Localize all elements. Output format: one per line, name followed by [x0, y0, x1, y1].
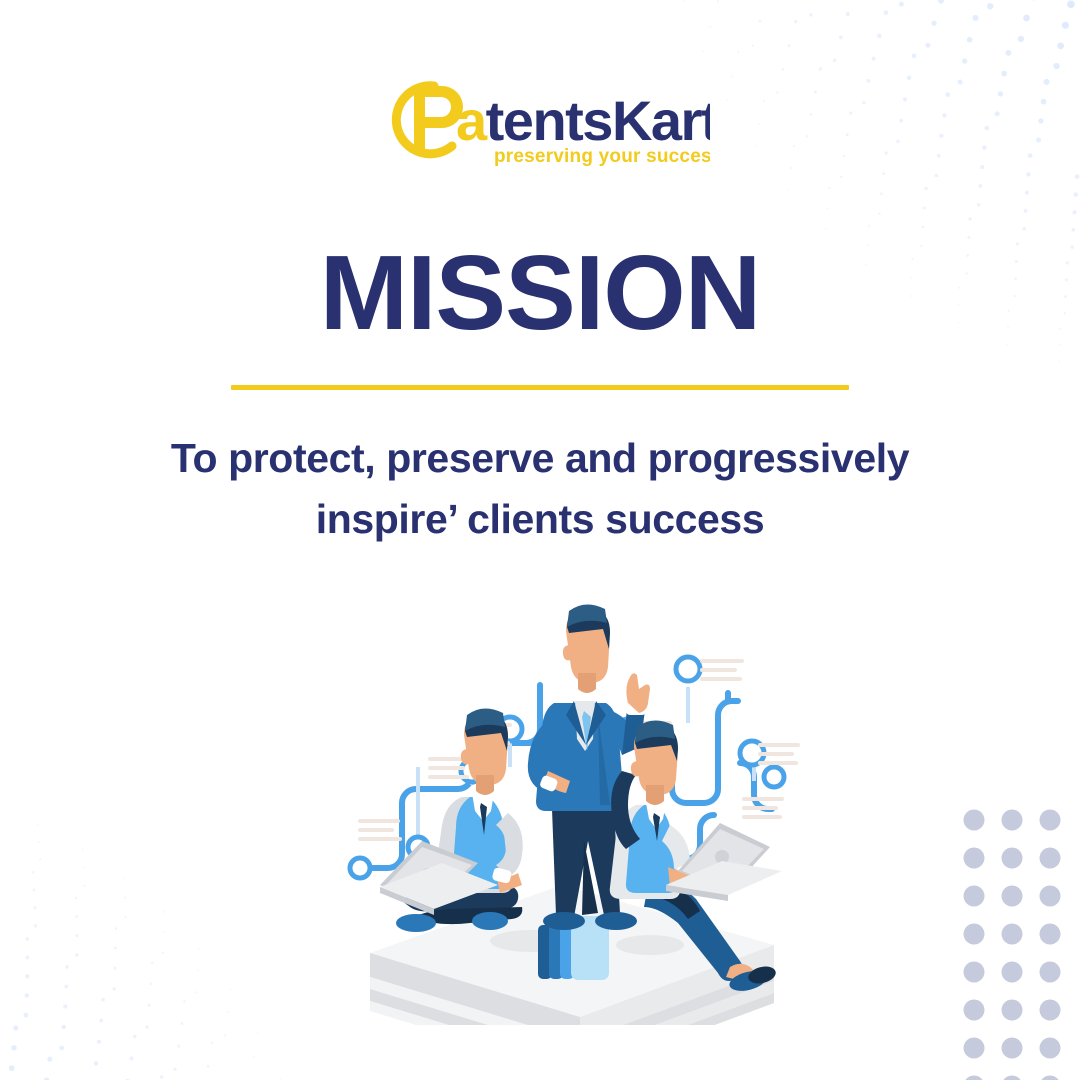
team-collaboration-illustration — [330, 585, 810, 1025]
mission-statement-line-2: inspire’ clients success — [316, 496, 765, 542]
heading-block: MISSION To protect, preserve and progres… — [0, 238, 1080, 550]
brand-logo: atentsKart preserving your success — [0, 72, 1080, 172]
halftone-burst-bottom-left-icon — [0, 755, 350, 1080]
logo-tagline: preserving your success — [494, 146, 710, 167]
title-divider — [231, 385, 849, 390]
page-title: MISSION — [0, 238, 1080, 348]
poster-canvas: atentsKart preserving your success MISSI… — [0, 0, 1080, 1080]
patentskart-logo-icon: atentsKart preserving your success — [370, 72, 710, 172]
svg-text:atentsKart: atentsKart — [456, 89, 710, 152]
mission-statement: To protect, preserve and progressively i… — [0, 428, 1080, 549]
dot-grid-bottom-right-icon — [962, 808, 1080, 1080]
mission-statement-line-1: To protect, preserve and progressively — [171, 435, 909, 481]
